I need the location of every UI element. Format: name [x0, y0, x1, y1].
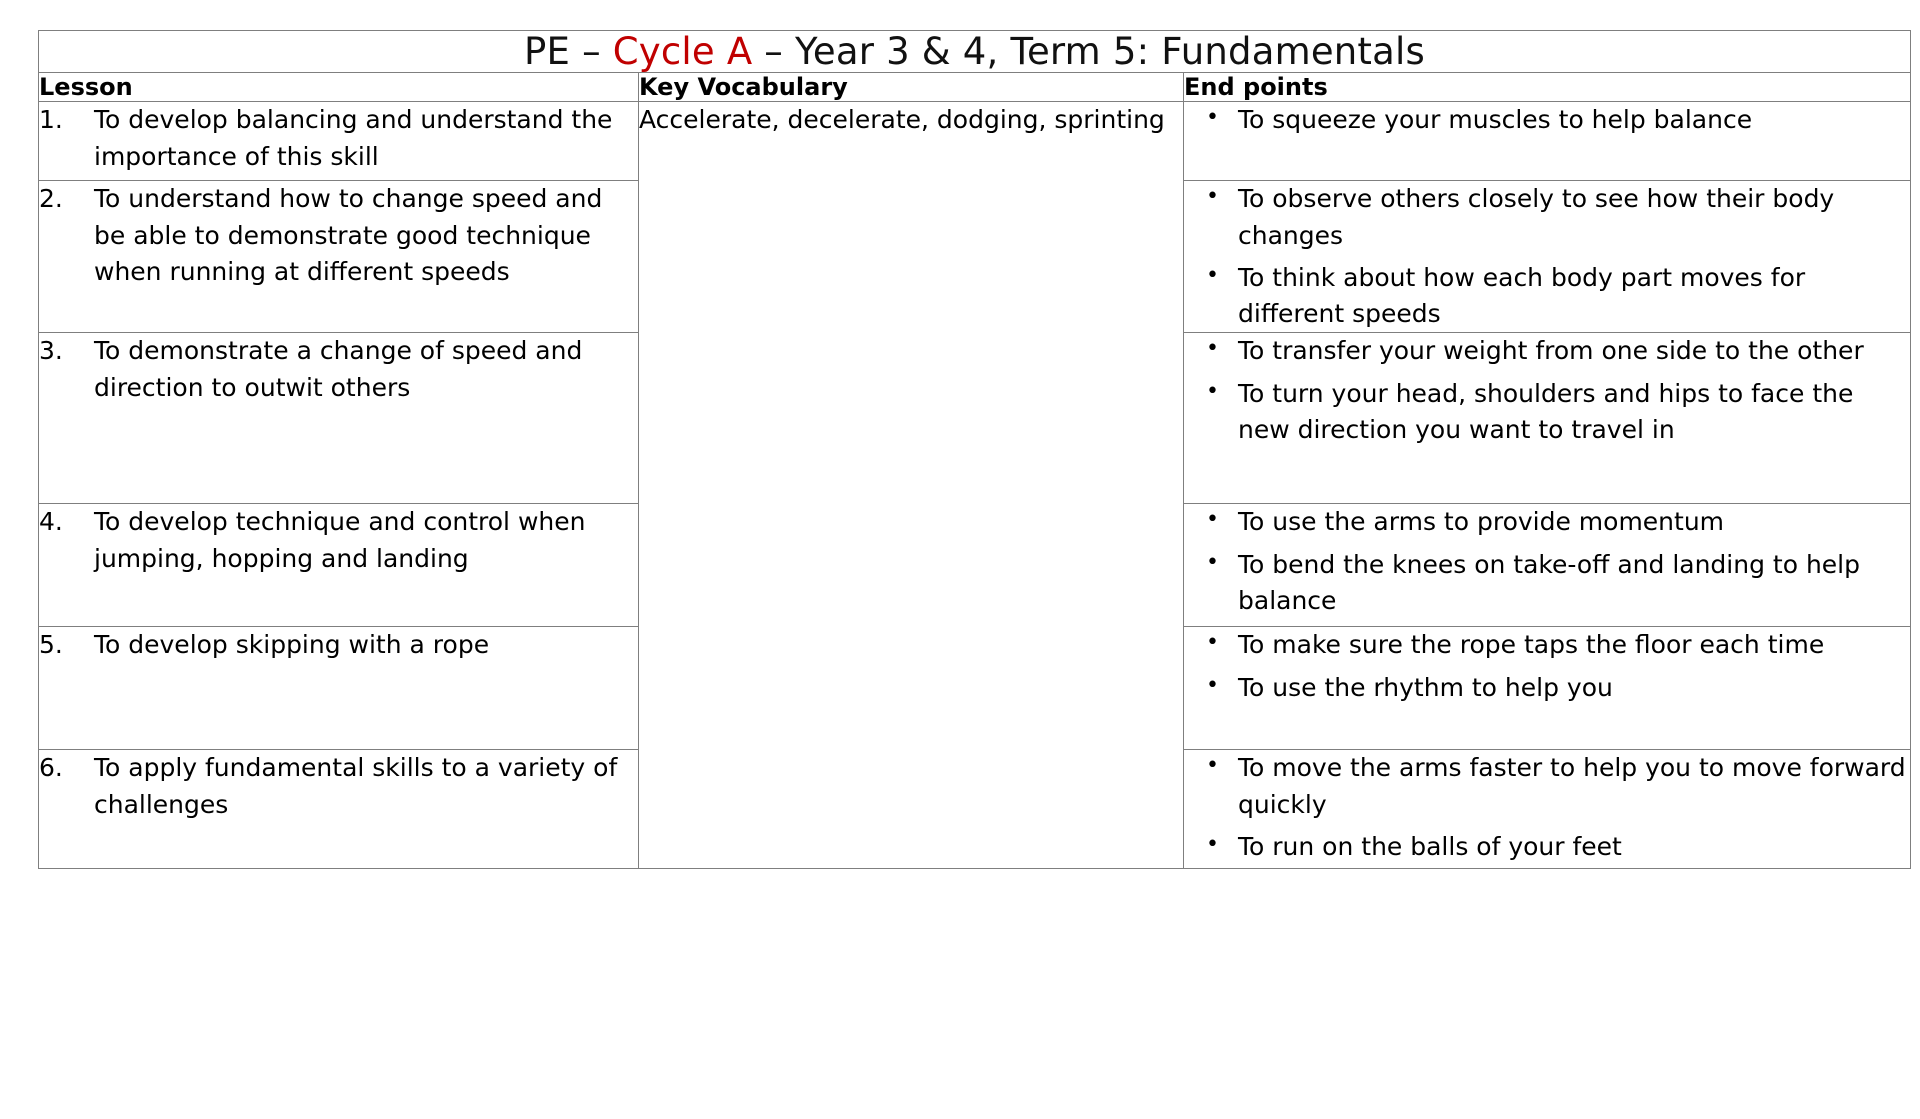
list-item: •To think about how each body part moves…: [1238, 260, 1910, 333]
title-banner: PE – Cycle A – Year 3 & 4, Term 5: Funda…: [39, 31, 1911, 73]
list-item: •To use the rhythm to help you: [1238, 670, 1910, 706]
bullet-icon: •: [1206, 547, 1219, 579]
end-points-list-3: •To transfer your weight from one side t…: [1184, 333, 1910, 448]
end-points-cell-5: •To make sure the rope taps the floor ea…: [1184, 627, 1911, 750]
lesson-cell-6: 6. To apply fundamental skills to a vari…: [39, 750, 639, 869]
end-points-cell-6: •To move the arms faster to help you to …: [1184, 750, 1911, 869]
end-point-text: To observe others closely to see how the…: [1238, 184, 1834, 249]
key-vocabulary-text: Accelerate, decelerate, dodging, sprinti…: [639, 102, 1183, 138]
list-item: •To run on the balls of your feet: [1238, 829, 1910, 865]
end-point-text: To squeeze your muscles to help balance: [1238, 105, 1752, 134]
lesson-cell-1: 1. To develop balancing and understand t…: [39, 102, 639, 181]
list-item: •To move the arms faster to help you to …: [1238, 750, 1910, 823]
lesson-cell-2: 2. To understand how to change speed and…: [39, 181, 639, 333]
column-header-lesson: Lesson: [39, 73, 639, 102]
end-points-list-1: •To squeeze your muscles to help balance: [1184, 102, 1910, 138]
end-point-text: To transfer your weight from one side to…: [1238, 336, 1864, 365]
lesson-cell-3: 3. To demonstrate a change of speed and …: [39, 333, 639, 504]
bullet-icon: •: [1206, 333, 1219, 365]
lesson-number-4: 4.: [39, 504, 94, 540]
end-point-text: To think about how each body part moves …: [1238, 263, 1805, 328]
title-prefix: PE –: [524, 30, 613, 73]
lesson-number-6: 6.: [39, 750, 94, 786]
lesson-number-3: 3.: [39, 333, 94, 369]
list-item: •To observe others closely to see how th…: [1238, 181, 1910, 254]
lesson-number-1: 1.: [39, 102, 94, 138]
end-point-text: To move the arms faster to help you to m…: [1238, 753, 1906, 818]
column-header-end-points: End points: [1184, 73, 1911, 102]
end-points-cell-1: •To squeeze your muscles to help balance: [1184, 102, 1911, 181]
lesson-cell-5: 5. To develop skipping with a rope: [39, 627, 639, 750]
end-point-text: To use the rhythm to help you: [1238, 673, 1613, 702]
bullet-icon: •: [1206, 829, 1219, 861]
lesson-cell-4: 4. To develop technique and control when…: [39, 504, 639, 627]
title-accent: Cycle A: [613, 30, 753, 73]
end-points-cell-3: •To transfer your weight from one side t…: [1184, 333, 1911, 504]
list-item: •To transfer your weight from one side t…: [1238, 333, 1910, 369]
bullet-icon: •: [1206, 260, 1219, 292]
key-vocabulary-cell: Accelerate, decelerate, dodging, sprinti…: [639, 102, 1184, 869]
curriculum-table: PE – Cycle A – Year 3 & 4, Term 5: Funda…: [38, 30, 1911, 869]
lesson-text-4: To develop technique and control when ju…: [94, 504, 638, 577]
lesson-text-2: To understand how to change speed and be…: [94, 181, 638, 290]
bullet-icon: •: [1206, 181, 1219, 213]
end-point-text: To run on the balls of your feet: [1238, 832, 1622, 861]
end-point-text: To bend the knees on take-off and landin…: [1238, 550, 1860, 615]
title-row: PE – Cycle A – Year 3 & 4, Term 5: Funda…: [39, 31, 1911, 73]
bullet-icon: •: [1206, 670, 1219, 702]
column-header-key-vocabulary: Key Vocabulary: [639, 73, 1184, 102]
table-row: 1. To develop balancing and understand t…: [39, 102, 1911, 181]
list-item: •To squeeze your muscles to help balance: [1238, 102, 1910, 138]
page-title: PE – Cycle A – Year 3 & 4, Term 5: Funda…: [39, 31, 1910, 72]
end-points-list-4: •To use the arms to provide momentum •To…: [1184, 504, 1910, 619]
list-item: •To bend the knees on take-off and landi…: [1238, 547, 1910, 620]
bullet-icon: •: [1206, 627, 1219, 659]
lesson-text-5: To develop skipping with a rope: [94, 627, 638, 663]
end-point-text: To use the arms to provide momentum: [1238, 507, 1724, 536]
end-point-text: To make sure the rope taps the floor eac…: [1238, 630, 1824, 659]
lesson-number-5: 5.: [39, 627, 94, 663]
bullet-icon: •: [1206, 376, 1219, 408]
bullet-icon: •: [1206, 750, 1219, 782]
list-item: •To turn your head, shoulders and hips t…: [1238, 376, 1910, 449]
document-page: PE – Cycle A – Year 3 & 4, Term 5: Funda…: [0, 0, 1920, 1119]
list-item: •To make sure the rope taps the floor ea…: [1238, 627, 1910, 663]
lesson-text-3: To demonstrate a change of speed and dir…: [94, 333, 638, 406]
end-points-list-6: •To move the arms faster to help you to …: [1184, 750, 1910, 865]
bullet-icon: •: [1206, 102, 1219, 134]
end-points-cell-2: •To observe others closely to see how th…: [1184, 181, 1911, 333]
lesson-text-6: To apply fundamental skills to a variety…: [94, 750, 638, 823]
bullet-icon: •: [1206, 504, 1219, 536]
lesson-text-1: To develop balancing and understand the …: [94, 102, 638, 175]
end-point-text: To turn your head, shoulders and hips to…: [1238, 379, 1853, 444]
end-points-list-2: •To observe others closely to see how th…: [1184, 181, 1910, 332]
column-header-row: Lesson Key Vocabulary End points: [39, 73, 1911, 102]
end-points-cell-4: •To use the arms to provide momentum •To…: [1184, 504, 1911, 627]
title-suffix: – Year 3 & 4, Term 5: Fundamentals: [752, 30, 1425, 73]
list-item: •To use the arms to provide momentum: [1238, 504, 1910, 540]
end-points-list-5: •To make sure the rope taps the floor ea…: [1184, 627, 1910, 706]
lesson-number-2: 2.: [39, 181, 94, 217]
